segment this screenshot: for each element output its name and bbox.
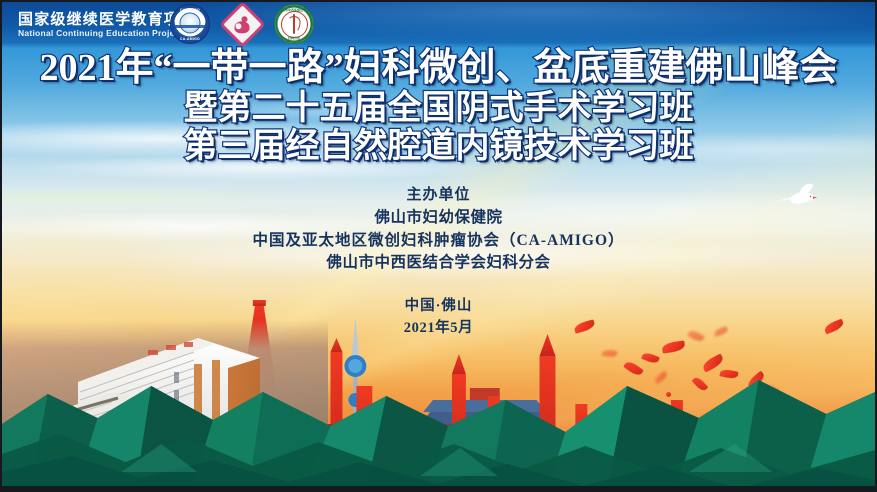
poster-title-line-1: 2021年“一带一路”妇科微创、盆底重建佛山峰会: [2, 49, 875, 87]
organizer-line-2: 中国及亚太地区微创妇科肿瘤协会（CA-AMIGO）: [2, 233, 875, 249]
poster-title-line-2: 暨第二十五届全国阴式手术学习班: [2, 92, 875, 126]
poster-bottom-edge: [2, 486, 875, 490]
medical-logo-top-text: 佛山市中西医结合学会: [275, 8, 313, 12]
event-date: 2021年5月: [2, 321, 875, 336]
organization-logo-row: CA-AMIGO CA-AMIGO 佛山市中西医结合学会: [170, 4, 314, 44]
organizer-line-1: 佛山市妇幼保健院: [2, 210, 875, 226]
organizer-heading: 主办单位: [2, 188, 875, 203]
medical-association-logo: 佛山市中西医结合学会 妇科分会: [274, 4, 314, 44]
poster-title-block: 2021年“一带一路”妇科微创、盆底重建佛山峰会 暨第二十五届全国阴式手术学习班…: [2, 49, 875, 164]
ca-amigo-logo-bar: [175, 25, 205, 28]
poster-title-line-3: 第三届经自然腔道内镜技术学习班: [2, 130, 875, 164]
ca-amigo-logo-bottom-text: CA-AMIGO: [171, 37, 209, 41]
mch-logo-child: [235, 22, 241, 28]
mch-logo-figure: [232, 14, 252, 34]
organizer-line-3: 佛山市中西医结合学会妇科分会: [2, 255, 875, 271]
ca-amigo-logo-center: [180, 13, 201, 34]
conference-poster: 国家级继续医学教育项目 National Continuing Educatio…: [0, 0, 877, 492]
ca-amigo-logo-top-text: CA-AMIGO: [171, 8, 209, 12]
mch-logo-mother-head: [241, 15, 247, 21]
event-place-block: 中国·佛山 2021年5月: [2, 299, 875, 335]
maternal-child-health-logo: [223, 5, 261, 43]
ca-amigo-logo: CA-AMIGO CA-AMIGO: [170, 4, 210, 44]
medical-logo-bottom-text: 妇科分会: [275, 36, 313, 40]
poster-header: 国家级继续医学教育项目 National Continuing Educatio…: [2, 2, 875, 48]
event-location: 中国·佛山: [2, 299, 875, 314]
organizer-block: 主办单位 佛山市妇幼保健院 中国及亚太地区微创妇科肿瘤协会（CA-AMIGO） …: [2, 188, 875, 278]
mch-logo-diamond: [219, 1, 266, 48]
lowpoly-green-mountains: [2, 322, 875, 490]
